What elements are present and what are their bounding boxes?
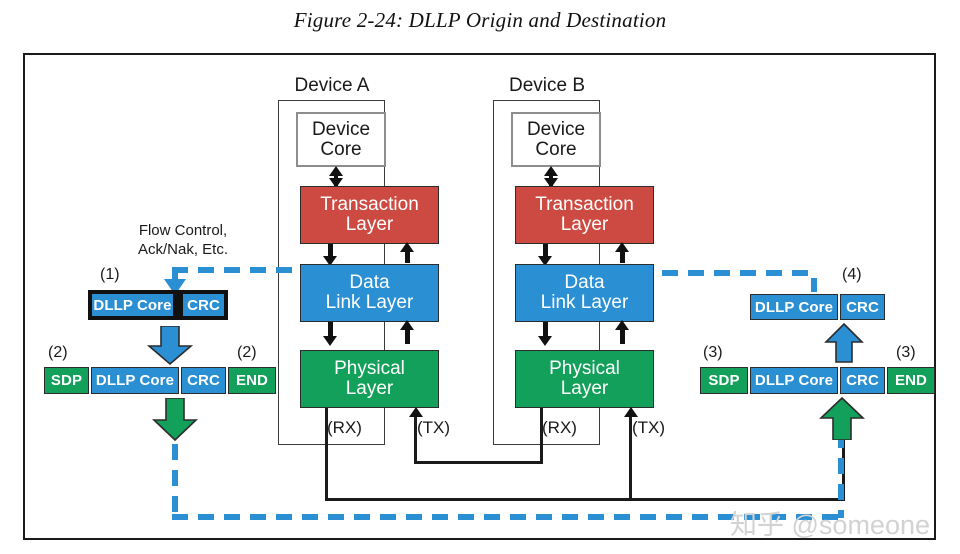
device-b-label: Device B: [467, 75, 627, 97]
packet-2-field-crc: CRC: [181, 367, 226, 394]
packet-4-route-arrow-left: [620, 269, 636, 291]
link-wire-a-tx-arrowhead: [409, 407, 423, 417]
link-wire-a-tx-vertical: [414, 415, 417, 463]
packet-4-field-crc: CRC: [840, 294, 885, 320]
device-a-core-tl-arrow-up: [329, 166, 343, 176]
device-b-physical-layer: Physical Layer: [515, 350, 654, 408]
device-a-data-link-layer: Data Link Layer: [300, 264, 439, 322]
flow-control-line2: Ack/Nak, Etc.: [138, 241, 228, 258]
packet-2-down-arrow: [152, 398, 198, 447]
device-b-dll-tl-up-head: [615, 242, 629, 252]
packet-2-field-sdp: SDP: [44, 367, 89, 394]
packet-3-to-4-arrow: [824, 322, 864, 369]
device-b-core-line2: Core: [535, 140, 576, 160]
packet-2-field-end: END: [228, 367, 276, 394]
device-b-tl-line2: Layer: [561, 215, 609, 235]
device-b-tx-label: (TX): [632, 418, 665, 438]
device-b-phy-dll-up-shaft: [620, 328, 625, 344]
step-1-label: (1): [100, 266, 120, 284]
device-b-tl-line1: Transaction: [535, 195, 634, 215]
device-a-device-core: Device Core: [296, 112, 386, 167]
device-a-dll-phy-down-head: [323, 336, 337, 346]
device-a-phy-dll-up-head: [400, 320, 414, 330]
figure-title: Figure 2-24: DLLP Origin and Destination: [0, 8, 960, 33]
device-a-rx-label: (RX): [327, 418, 362, 438]
device-a-transaction-layer: Transaction Layer: [300, 186, 439, 244]
figure-canvas: Figure 2-24: DLLP Origin and Destination…: [0, 0, 960, 554]
device-b-device-core: Device Core: [511, 112, 601, 167]
packet-4-route-stub: [811, 278, 817, 292]
blue-down-arrow-icon: [147, 326, 193, 366]
link-wire-a-rx-vertical: [325, 408, 328, 501]
step-4-label: (4): [842, 266, 862, 284]
packet-3-up-arrow: [819, 396, 865, 445]
green-down-arrow-icon: [152, 398, 198, 442]
device-a-phy-dll-up-shaft: [405, 328, 410, 344]
device-a-tl-line2: Layer: [346, 215, 394, 235]
device-b-phy-dll-up-head: [615, 320, 629, 330]
device-b-rx-label: (RX): [542, 418, 577, 438]
device-b-dll-line1: Data: [564, 273, 604, 293]
device-b-core-tl-arrow-up: [544, 166, 558, 176]
link-wire-bottom-horizontal: [325, 498, 845, 501]
device-a-dll-tl-up-head: [400, 242, 414, 252]
bottom-route-dashed-left-vertical: [172, 444, 178, 520]
device-b-dll-line2: Link Layer: [541, 293, 629, 313]
device-b-core-line1: Device: [527, 120, 585, 140]
link-wire-mid-horizontal: [414, 461, 543, 464]
packet-3-field-crc: CRC: [840, 367, 885, 394]
packet-4-route-horizontal: [636, 270, 816, 276]
step-2-right-label: (2): [237, 344, 257, 362]
device-a-tx-label: (TX): [417, 418, 450, 438]
packet-1-field-dllp-core: DLLP Core: [92, 294, 173, 316]
device-b-dll-phy-down-head: [538, 336, 552, 346]
device-a-core-line1: Device: [312, 120, 370, 140]
device-a-tl-line1: Transaction: [320, 195, 419, 215]
device-b-phy-line1: Physical: [549, 359, 620, 379]
blue-up-arrow-icon: [824, 322, 864, 364]
step-3-left-label: (3): [703, 344, 723, 362]
device-a-dll-line1: Data: [349, 273, 389, 293]
device-b-phy-line2: Layer: [561, 379, 609, 399]
device-a-core-line2: Core: [320, 140, 361, 160]
flow-control-annotation: Flow Control, Ack/Nak, Etc.: [103, 222, 263, 260]
packet-1-field-crc: CRC: [183, 294, 224, 316]
packet-2-field-dllp-core: DLLP Core: [91, 367, 179, 394]
device-a-dll-line2: Link Layer: [326, 293, 414, 313]
device-a-phy-line2: Layer: [346, 379, 394, 399]
packet-3-field-end: END: [887, 367, 935, 394]
watermark: 知乎 @someone: [730, 503, 930, 542]
link-wire-b-tx-vertical: [629, 415, 632, 501]
green-up-arrow-icon: [819, 396, 865, 440]
step-2-left-label: (2): [48, 344, 68, 362]
flow-control-dashed-horizontal: [172, 267, 302, 273]
packet-4-field-dllp-core: DLLP Core: [750, 294, 838, 320]
flow-control-line1: Flow Control,: [139, 222, 227, 239]
device-a-label: Device A: [252, 75, 412, 97]
device-a-physical-layer: Physical Layer: [300, 350, 439, 408]
link-wire-b-tx-arrowhead: [624, 407, 638, 417]
packet-3-field-sdp: SDP: [700, 367, 748, 394]
device-a-phy-line1: Physical: [334, 359, 405, 379]
step-3-right-label: (3): [896, 344, 916, 362]
packet-3-field-dllp-core: DLLP Core: [750, 367, 838, 394]
link-wire-b-rx-vertical: [540, 408, 543, 463]
device-b-transaction-layer: Transaction Layer: [515, 186, 654, 244]
packet-1-to-2-arrow: [147, 326, 193, 371]
